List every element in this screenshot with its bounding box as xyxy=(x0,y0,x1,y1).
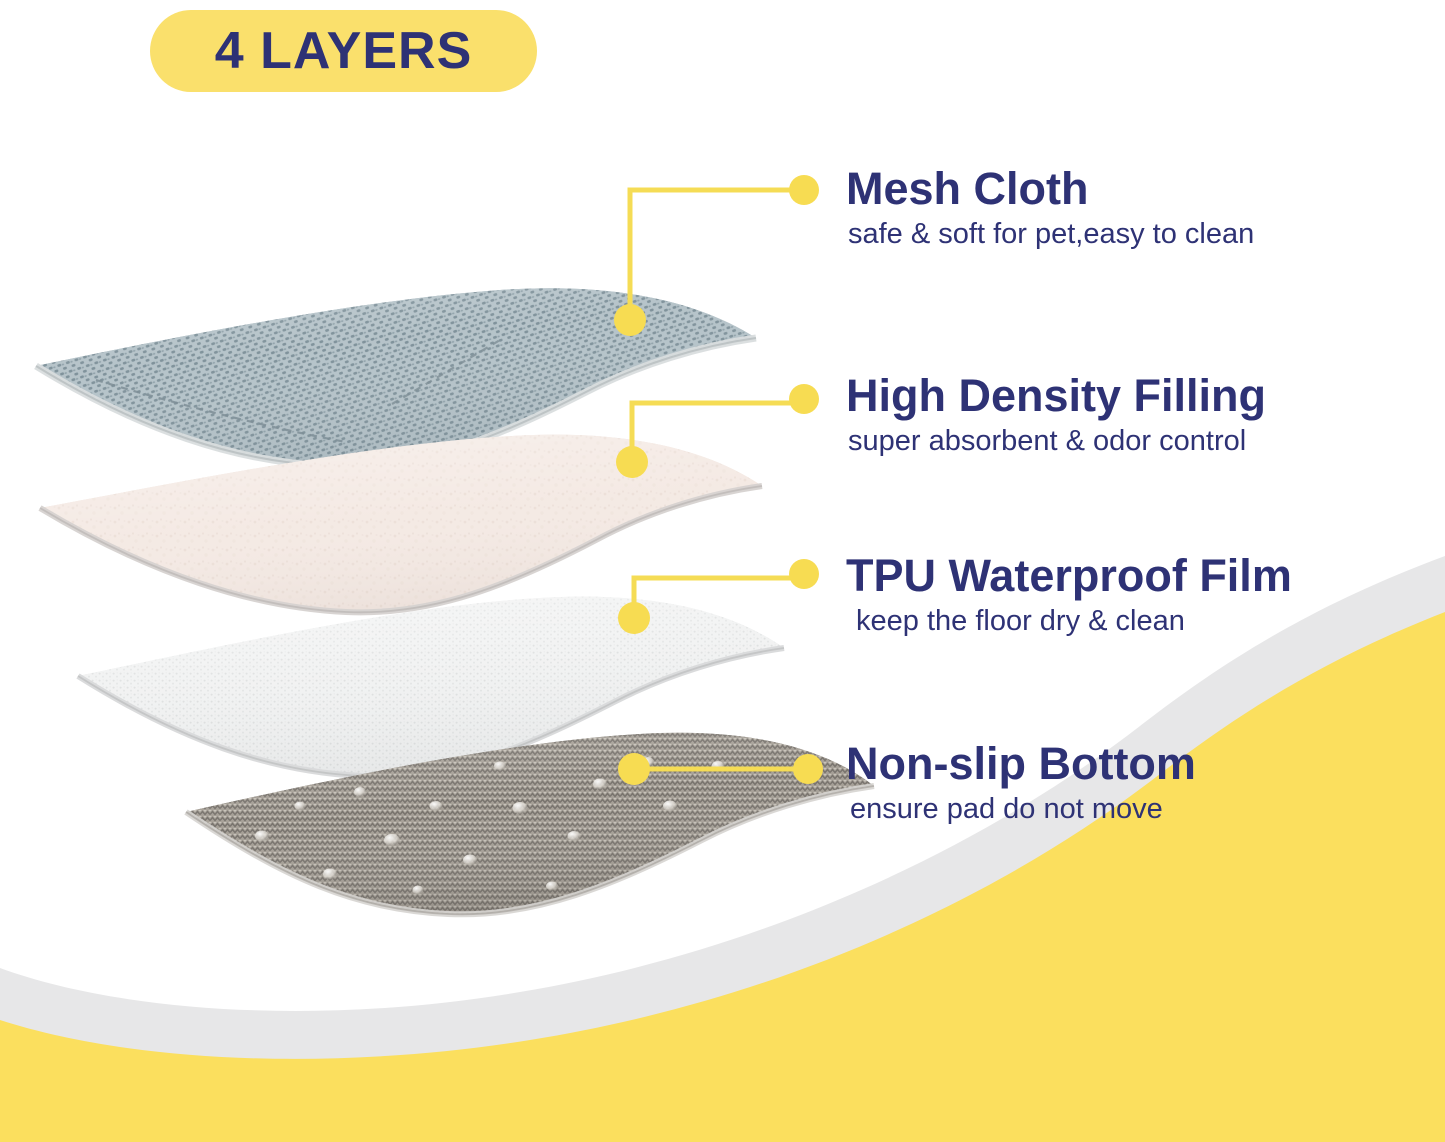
dot-layer-mesh-cloth xyxy=(614,304,646,336)
dot-layer-tpu-waterproof-film xyxy=(618,602,650,634)
dot-label-non-slip-bottom xyxy=(793,754,823,784)
label-high-density-filling-subtitle: super absorbent & odor control xyxy=(846,419,1266,458)
label-non-slip-bottom-subtitle: ensure pad do not move xyxy=(846,787,1196,826)
dot-label-high-density-filling xyxy=(789,384,819,414)
dot-label-mesh-cloth xyxy=(789,175,819,205)
infographic-canvas: 4 LAYERS Mesh Cloth safe & soft for pet,… xyxy=(0,0,1445,1142)
dot-label-tpu-waterproof-film xyxy=(789,559,819,589)
label-mesh-cloth-title: Mesh Cloth xyxy=(846,165,1254,212)
dot-layer-high-density-filling xyxy=(616,446,648,478)
layers-count-badge: 4 LAYERS xyxy=(150,10,537,92)
label-tpu-waterproof-film-subtitle: keep the floor dry & clean xyxy=(846,599,1292,638)
dot-layer-non-slip-bottom xyxy=(618,753,650,785)
label-mesh-cloth-subtitle: safe & soft for pet,easy to clean xyxy=(846,212,1254,251)
layers-count-badge-label: 4 LAYERS xyxy=(215,25,473,77)
label-mesh-cloth: Mesh Cloth safe & soft for pet,easy to c… xyxy=(846,165,1254,251)
label-tpu-waterproof-film: TPU Waterproof Film keep the floor dry &… xyxy=(846,552,1292,638)
label-high-density-filling: High Density Filling super absorbent & o… xyxy=(846,372,1266,458)
label-non-slip-bottom-title: Non-slip Bottom xyxy=(846,740,1196,787)
label-non-slip-bottom: Non-slip Bottom ensure pad do not move xyxy=(846,740,1196,826)
label-high-density-filling-title: High Density Filling xyxy=(846,372,1266,419)
label-tpu-waterproof-film-title: TPU Waterproof Film xyxy=(846,552,1292,599)
